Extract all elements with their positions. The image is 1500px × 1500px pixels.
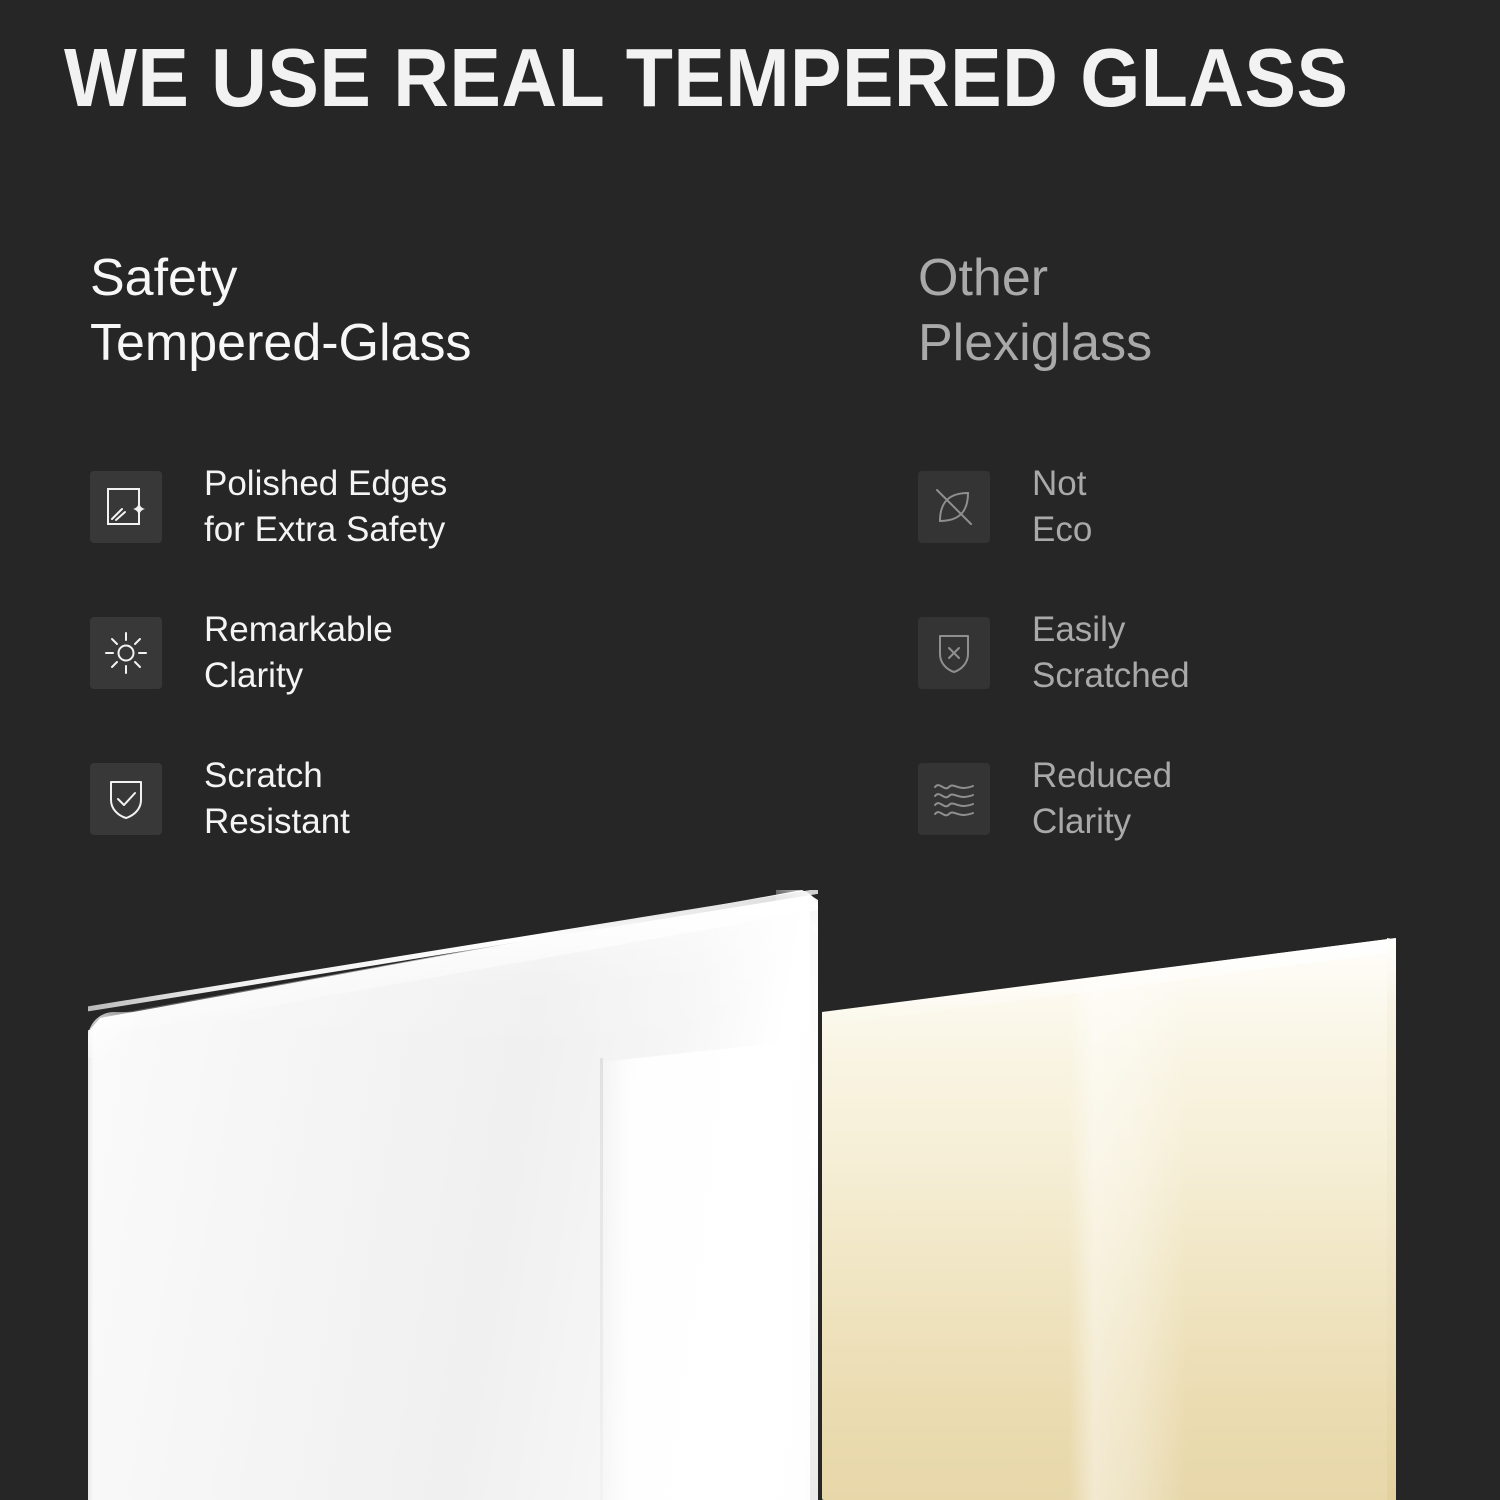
feature-easily-scratched: Easily Scratched — [918, 604, 1478, 702]
right-column-other-plexiglass: Other Plexiglass Not Eco — [918, 246, 1478, 848]
left-column-title: Safety Tempered-Glass — [90, 246, 850, 376]
left-column-safety-tempered-glass: Safety Tempered-Glass Polished Edges for… — [90, 246, 850, 848]
leaf-crossed-out-icon — [918, 471, 990, 543]
polished-edge-sparkle-icon — [90, 471, 162, 543]
feature-polished-edges: Polished Edges for Extra Safety — [90, 458, 850, 556]
plexiglass-right-edge — [1387, 938, 1396, 1500]
feature-reduced-clarity: Reduced Clarity — [918, 750, 1478, 848]
right-column-title: Other Plexiglass — [918, 246, 1478, 376]
feature-label: Scratch Resistant — [204, 753, 350, 845]
left-feature-list: Polished Edges for Extra Safety — [90, 458, 850, 848]
page-title: WE USE REAL TEMPERED GLASS — [64, 36, 1357, 119]
tempered-glass-corner-top-right — [776, 890, 818, 934]
tempered-glass-panel — [88, 890, 818, 1500]
plexiglass-highlight-band — [1068, 938, 1188, 1500]
product-comparison-photo — [0, 860, 1500, 1500]
tempered-glass-reflection-edge — [600, 1058, 603, 1500]
plexiglass-panel — [822, 938, 1396, 1500]
feature-label: Easily Scratched — [1032, 607, 1190, 699]
shield-x-icon — [918, 617, 990, 689]
right-feature-list: Not Eco Easily Scratched — [918, 458, 1478, 848]
feature-label: Not Eco — [1032, 461, 1092, 553]
feature-remarkable-clarity: Remarkable Clarity — [90, 604, 850, 702]
feature-label: Reduced Clarity — [1032, 753, 1172, 845]
feature-label: Polished Edges for Extra Safety — [204, 461, 447, 553]
tempered-glass-polished-edge — [88, 890, 818, 1040]
brightness-sun-icon — [90, 617, 162, 689]
feature-scratch-resistant: Scratch Resistant — [90, 750, 850, 848]
tempered-glass-left-edge — [88, 1030, 94, 1500]
comparison-infographic: WE USE REAL TEMPERED GLASS Safety Temper… — [0, 0, 1500, 1500]
tempered-glass-reflection — [600, 1040, 806, 1500]
wavy-lines-icon — [918, 763, 990, 835]
shield-check-icon — [90, 763, 162, 835]
feature-label: Remarkable Clarity — [204, 607, 393, 699]
tempered-glass-corner-top-left — [88, 1012, 144, 1058]
feature-not-eco: Not Eco — [918, 458, 1478, 556]
